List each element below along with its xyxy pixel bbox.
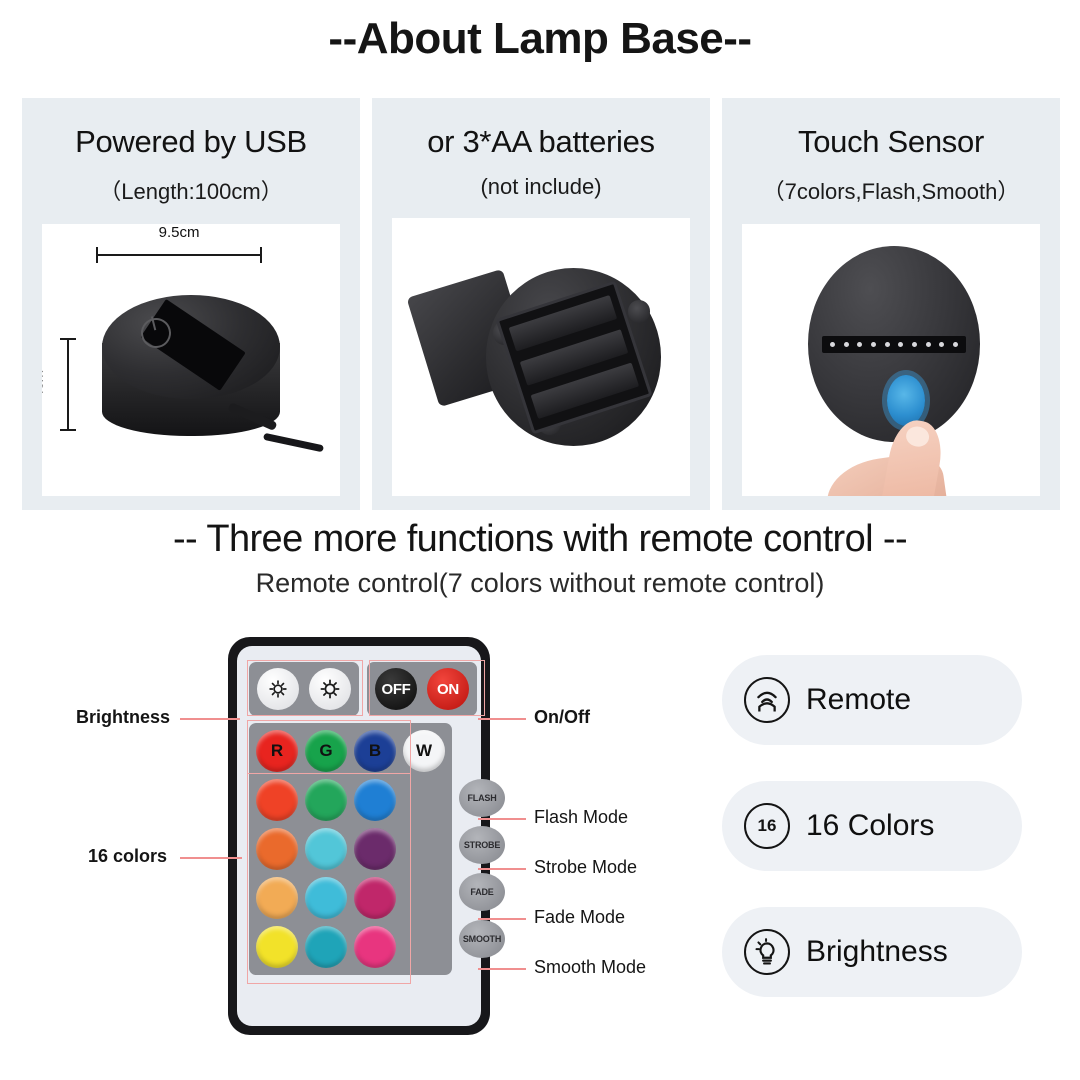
led-strip (822, 336, 967, 354)
color-button-g[interactable]: G (305, 730, 347, 772)
touch-button[interactable] (887, 375, 925, 426)
card-powered-by-usb: Powered by USB （Length:100cm） 9.5cm 4cm (22, 98, 360, 510)
color-swatch-0-2[interactable] (354, 779, 396, 821)
battery-cavity (495, 280, 652, 434)
pill-label: Brightness (806, 935, 948, 969)
connector-strobe (478, 868, 526, 870)
color-swatch-2-1[interactable] (305, 877, 347, 919)
remote-signal-glyph (746, 679, 788, 721)
brightness-group (249, 662, 359, 716)
battery-illustration (416, 251, 666, 462)
mode-button-column: FLASHSTROBEFADESMOOTH (459, 723, 505, 975)
remote-signal-icon (744, 677, 790, 723)
remote-control: OFF ON R G B W FLASHSTROBEFADESMOOTH (228, 637, 490, 1035)
color-button-w[interactable]: W (403, 730, 445, 772)
touch-sensor-photo (742, 224, 1039, 496)
color-swatch-0-1[interactable] (305, 779, 347, 821)
cable-segment (227, 402, 277, 431)
sun-large-icon (319, 678, 341, 700)
pill-label: 16 Colors (806, 809, 934, 843)
card-touch-sensor: Touch Sensor （7colors,Flash,Smooth） (722, 98, 1060, 510)
color-grid-panel: R G B W (249, 723, 452, 975)
callout-strobe: Strobe Mode (534, 857, 637, 878)
remote-keypad: R G B W FLASHSTROBEFADESMOOTH (249, 723, 469, 975)
height-dimension: 4cm (52, 338, 74, 430)
callout-brightness: Brightness (76, 707, 170, 728)
card-title: Powered by USB (75, 124, 307, 160)
callout-onoff: On/Off (534, 707, 590, 728)
brightness-down-button[interactable] (257, 668, 299, 710)
height-dimension-label: 4cm (42, 370, 47, 398)
callout-flash: Flash Mode (534, 807, 628, 828)
dimension-cap-top (60, 338, 76, 340)
feature-card-row: Powered by USB （Length:100cm） 9.5cm 4cm (22, 98, 1060, 510)
led-dot (885, 342, 890, 347)
led-dot (844, 342, 849, 347)
sun-small-icon (267, 678, 289, 700)
color-button-r[interactable]: R (256, 730, 298, 772)
battery-compartment-photo (392, 218, 689, 496)
dimension-cap-right (260, 247, 262, 263)
color-swatch-2-0[interactable] (256, 877, 298, 919)
color-swatch-1-1[interactable] (305, 828, 347, 870)
color-swatch-grid (256, 779, 445, 968)
width-dimension: 9.5cm (96, 240, 263, 260)
cable-segment (263, 433, 324, 452)
infographic-page: --About Lamp Base-- Powered by USB （Leng… (0, 0, 1080, 1080)
color-swatch-3-1[interactable] (305, 926, 347, 968)
brightness-up-button[interactable] (309, 668, 351, 710)
color-swatch-3-2[interactable] (354, 926, 396, 968)
section-title: -- Three more functions with remote cont… (0, 518, 1080, 561)
on-button[interactable]: ON (427, 668, 469, 710)
pill-brightness: Brightness (722, 907, 1022, 997)
card-title: Touch Sensor (798, 124, 984, 160)
card-subtitle: （7colors,Flash,Smooth） (763, 174, 1020, 206)
off-button[interactable]: OFF (375, 668, 417, 710)
dimension-cap-left (96, 247, 98, 263)
color-swatch-0-0[interactable] (256, 779, 298, 821)
color-swatch-3-0[interactable] (256, 926, 298, 968)
lamp-base-side-photo: 9.5cm 4cm (42, 224, 339, 496)
connector-fade (478, 918, 526, 920)
base-underside (486, 268, 661, 445)
base-top-surface (102, 295, 280, 400)
led-dot (857, 342, 862, 347)
dimension-bar (96, 254, 263, 256)
mode-button-strobe[interactable]: STROBE (459, 826, 505, 864)
connector-16colors (180, 857, 242, 859)
mode-button-smooth[interactable]: SMOOTH (459, 920, 505, 958)
width-dimension-label: 9.5cm (96, 224, 263, 241)
bulb-icon (744, 929, 790, 975)
connector-brightness (180, 718, 240, 720)
led-dot (898, 342, 903, 347)
lamp-base-top-view (808, 246, 981, 442)
led-dot (912, 342, 917, 347)
callout-smooth: Smooth Mode (534, 957, 646, 978)
card-subtitle: （Length:100cm） (99, 174, 282, 206)
sixteen-circle-icon: 16 (744, 803, 790, 849)
remote-top-row: OFF ON (249, 662, 469, 716)
rgbw-row: R G B W (256, 730, 445, 772)
card-title: or 3*AA batteries (427, 124, 655, 160)
rubber-foot (628, 300, 651, 323)
connector-onoff (478, 718, 526, 720)
pill-16-colors: 16 16 Colors (722, 781, 1022, 871)
sixteen-badge-text: 16 (758, 816, 777, 836)
dimension-bar (67, 338, 69, 430)
remote-face: OFF ON R G B W FLASHSTROBEFADESMOOTH (237, 646, 481, 1026)
led-dot (939, 342, 944, 347)
pill-label: Remote (806, 683, 911, 717)
led-dot (953, 342, 958, 347)
connector-flash (478, 818, 526, 820)
dimension-cap-bottom (60, 429, 76, 431)
color-swatch-2-2[interactable] (354, 877, 396, 919)
color-swatch-1-0[interactable] (256, 828, 298, 870)
section-subtitle: Remote control(7 colors without remote c… (0, 568, 1080, 599)
usb-cable (227, 404, 328, 486)
bulb-glyph (746, 931, 788, 973)
callout-fade: Fade Mode (534, 907, 625, 928)
page-title: --About Lamp Base-- (0, 14, 1080, 64)
color-button-b[interactable]: B (354, 730, 396, 772)
mode-button-flash[interactable]: FLASH (459, 779, 505, 817)
card-aa-batteries: or 3*AA batteries (not include) (372, 98, 710, 510)
color-swatch-1-2[interactable] (354, 828, 396, 870)
led-dot (926, 342, 931, 347)
pill-remote: Remote (722, 655, 1022, 745)
card-subtitle: (not include) (480, 174, 601, 200)
led-dot (871, 342, 876, 347)
led-dot (830, 342, 835, 347)
connector-smooth (478, 968, 526, 970)
power-group: OFF ON (367, 662, 477, 716)
feature-pill-list: Remote 16 16 Colors (722, 655, 1022, 1033)
mode-button-fade[interactable]: FADE (459, 873, 505, 911)
callout-16colors: 16 colors (88, 846, 167, 867)
